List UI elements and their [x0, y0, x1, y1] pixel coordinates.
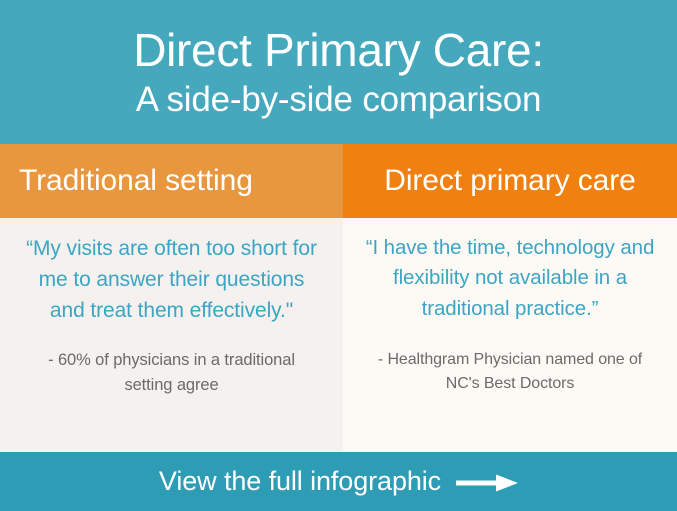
- quote-text: “My visits are often too short for me to…: [22, 233, 321, 326]
- infographic-card: Direct Primary Care: A side-by-side comp…: [0, 0, 677, 511]
- page-subtitle: A side-by-side comparison: [136, 80, 541, 120]
- comparison-body: “My visits are often too short for me to…: [0, 218, 677, 452]
- header-banner: Direct Primary Care: A side-by-side comp…: [0, 0, 677, 144]
- column-traditional-setting: “My visits are often too short for me to…: [0, 218, 343, 452]
- page-title: Direct Primary Care:: [133, 26, 544, 74]
- arrow-right-icon: [456, 473, 518, 493]
- column-header-label: Traditional setting: [19, 166, 253, 196]
- view-full-infographic-button[interactable]: View the full infographic: [0, 452, 677, 511]
- column-header-label: Direct primary care: [384, 166, 635, 196]
- column-header-traditional-setting: Traditional setting: [0, 144, 343, 218]
- quote-attribution: - 60% of physicians in a traditional set…: [22, 348, 321, 397]
- column-direct-primary-care: “I have the time, technology and flexibi…: [343, 218, 677, 452]
- comparison-column-headers: Traditional setting Direct primary care: [0, 144, 677, 218]
- quote-text: “I have the time, technology and flexibi…: [365, 233, 655, 324]
- quote-attribution: - Healthgram Physician named one of NC's…: [365, 348, 655, 395]
- cta-label: View the full infographic: [159, 468, 441, 495]
- column-header-direct-primary-care: Direct primary care: [343, 144, 677, 218]
